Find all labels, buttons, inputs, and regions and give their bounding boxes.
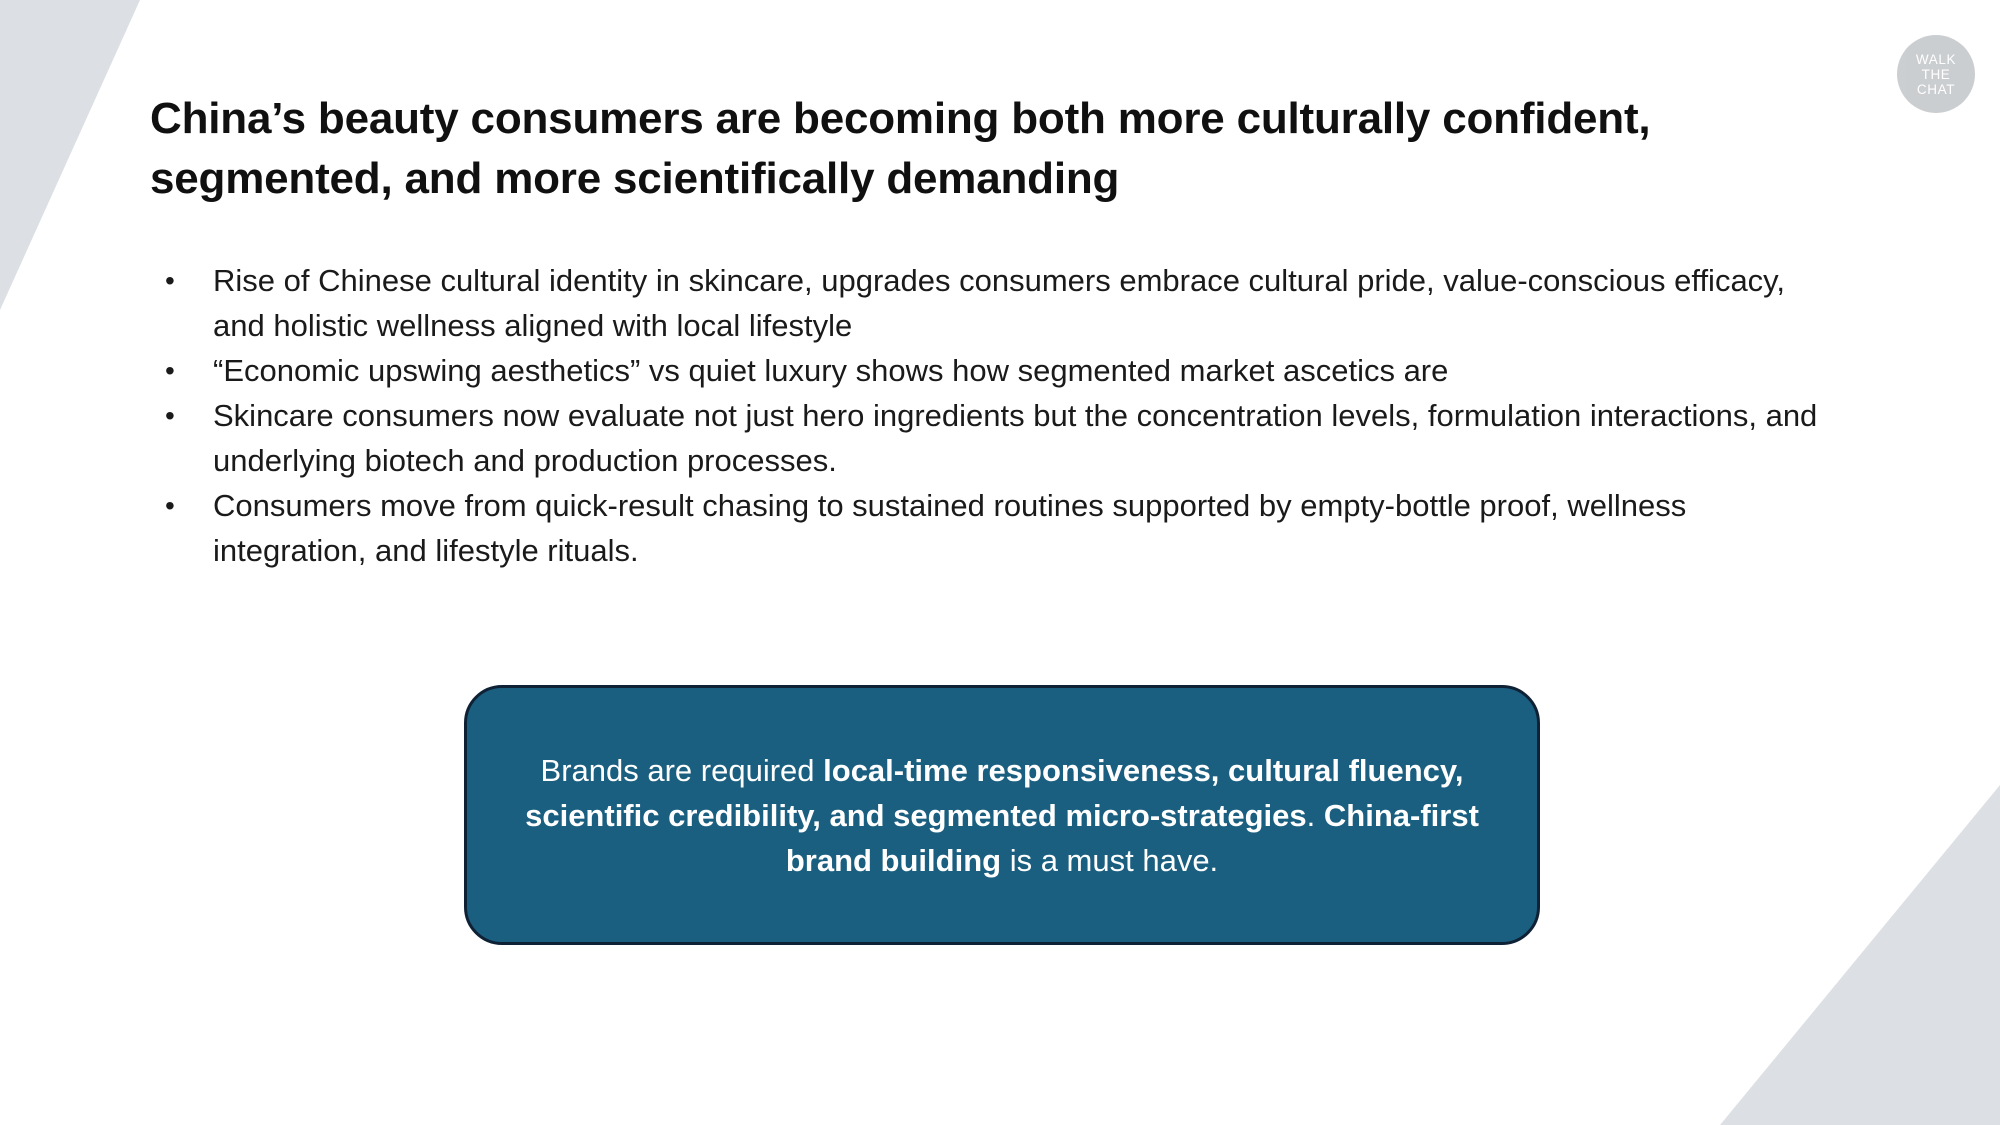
logo-line-1: WALK <box>1916 52 1956 67</box>
walk-the-chat-logo: WALK THE CHAT <box>1897 35 1975 113</box>
slide-canvas: WALK THE CHAT China’s beauty consumers a… <box>0 0 2000 1125</box>
slide-title: China’s beauty consumers are becoming bo… <box>150 89 1850 209</box>
list-item: Rise of Chinese cultural identity in ski… <box>155 258 1835 348</box>
callout-segment-regular-2: . <box>1307 798 1324 833</box>
logo-line-3: CHAT <box>1917 82 1955 97</box>
decorative-wedge-top-left <box>0 0 160 310</box>
list-item: Skincare consumers now evaluate not just… <box>155 393 1835 483</box>
callout-segment-regular-3: is a must have. <box>1001 843 1218 878</box>
callout-text: Brands are required local-time responsiv… <box>521 748 1483 883</box>
decorative-wedge-bottom-right <box>1700 745 2000 1125</box>
list-item: “Economic upswing aesthetics” vs quiet l… <box>155 348 1835 393</box>
callout-segment-regular-1: Brands are required <box>541 753 824 788</box>
logo-line-2: THE <box>1922 67 1951 82</box>
list-item: Consumers move from quick-result chasing… <box>155 483 1835 573</box>
key-takeaway-callout: Brands are required local-time responsiv… <box>464 685 1540 945</box>
bullet-list: Rise of Chinese cultural identity in ski… <box>155 258 1835 573</box>
